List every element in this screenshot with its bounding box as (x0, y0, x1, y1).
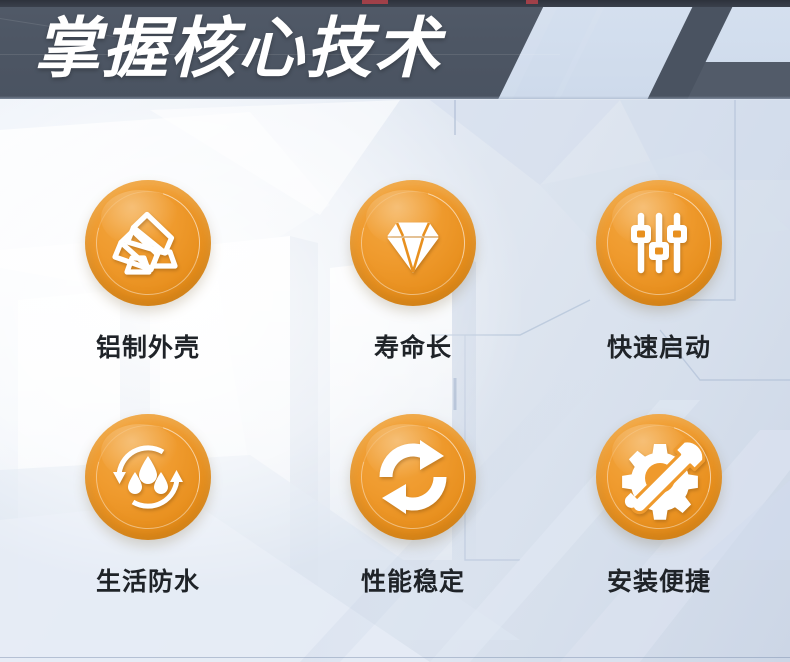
feature-badge-4[interactable] (350, 414, 476, 540)
feature-label-2: 快速启动 (559, 328, 759, 364)
header-banner: 掌握核心技术 (0, 0, 790, 99)
feature-label-3: 生活防水 (48, 562, 248, 598)
sliders-icon (596, 180, 722, 306)
feature-item-2[interactable]: 快速启动 (559, 180, 759, 364)
metal-ingots-icon (85, 180, 211, 306)
feature-grid: 铝制外壳 寿命长 (0, 99, 790, 662)
header-red-mark-1 (362, 0, 388, 4)
feature-label-0: 铝制外壳 (48, 328, 248, 364)
refresh-cycle-icon (350, 414, 476, 540)
feature-item-4[interactable]: 性能稳定 (313, 414, 513, 598)
feature-item-5[interactable]: 安装便捷 (559, 414, 759, 598)
feature-badge-2[interactable] (596, 180, 722, 306)
feature-item-1[interactable]: 寿命长 (313, 180, 513, 364)
feature-label-5: 安装便捷 (559, 562, 759, 598)
feature-badge-0[interactable] (85, 180, 211, 306)
feature-poster: 掌握核心技术 (0, 0, 790, 662)
feature-item-0[interactable]: 铝制外壳 (48, 180, 248, 364)
feature-badge-1[interactable] (350, 180, 476, 306)
gear-wrench-icon (596, 414, 722, 540)
feature-label-4: 性能稳定 (313, 562, 513, 598)
feature-badge-3[interactable] (85, 414, 211, 540)
diamond-icon (350, 180, 476, 306)
feature-item-3[interactable]: 生活防水 (48, 414, 248, 598)
bottom-divider (0, 657, 790, 658)
water-drops-cycle-icon (85, 414, 211, 540)
feature-label-1: 寿命长 (313, 328, 513, 364)
page-title: 掌握核心技术 (34, 5, 442, 93)
feature-badge-5[interactable] (596, 414, 722, 540)
header-red-mark-2 (526, 0, 538, 4)
